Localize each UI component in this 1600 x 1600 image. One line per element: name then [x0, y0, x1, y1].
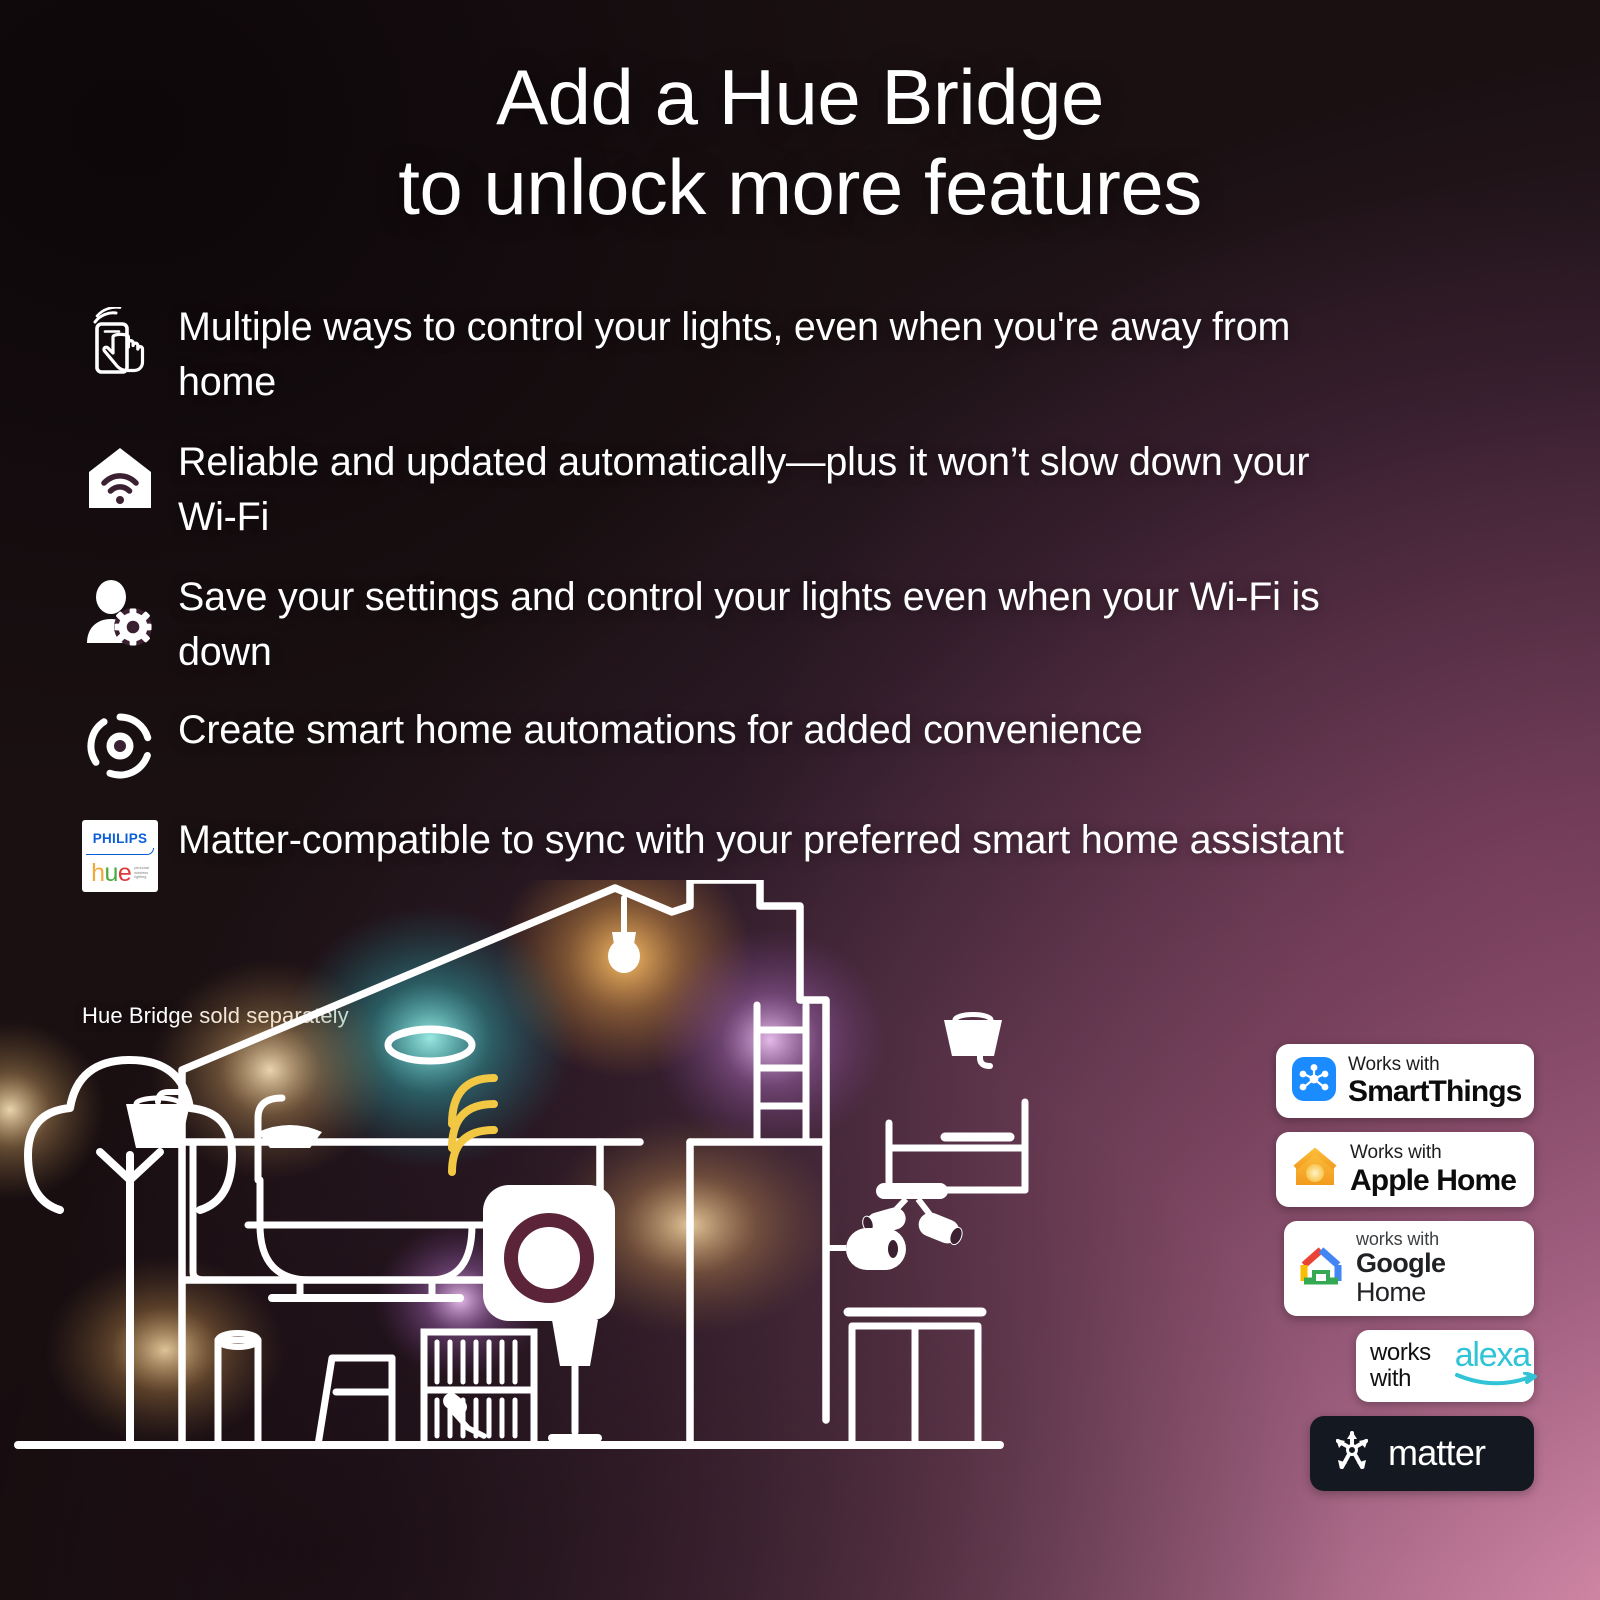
table-lamp — [552, 1320, 598, 1438]
chair — [318, 1358, 392, 1445]
feature-item-control: Multiple ways to control your lights, ev… — [72, 300, 1372, 409]
alexa-works-with-label: works with — [1370, 1339, 1443, 1393]
feature-item-save-settings: Save your settings and control your ligh… — [72, 570, 1372, 679]
user-gear-icon — [72, 574, 168, 652]
feature-text: Save your settings and control your ligh… — [168, 570, 1372, 679]
sideboard — [848, 1312, 982, 1445]
outdoor-wall-lantern — [126, 1092, 190, 1148]
feature-item-reliable: Reliable and updated automatically—plus … — [72, 435, 1372, 544]
badge-matter[interactable]: matter — [1310, 1416, 1534, 1491]
matter-wordmark: matter — [1388, 1435, 1485, 1471]
badge-small-label: Works with — [1348, 1054, 1521, 1075]
badge-brand-label: SmartThings — [1348, 1075, 1521, 1108]
matter-icon — [1330, 1429, 1374, 1478]
house-illustration — [0, 880, 1170, 1600]
badge-small-label: works with — [1356, 1229, 1520, 1249]
smartthings-icon — [1292, 1057, 1336, 1106]
badge-brand-label: Google Home — [1356, 1249, 1520, 1308]
feature-text: Multiple ways to control your lights, ev… — [168, 300, 1372, 409]
apple-home-icon — [1292, 1145, 1338, 1194]
page-title: Add a Hue Bridge to unlock more features — [0, 52, 1600, 233]
feature-list: Multiple ways to control your lights, ev… — [72, 300, 1372, 917]
badge-alexa[interactable]: works with alexa — [1356, 1330, 1534, 1402]
google-home-icon — [1298, 1245, 1344, 1292]
alexa-wordmark: alexa — [1443, 1339, 1539, 1393]
compatibility-badges: Works with SmartThings Works with Apple … — [1264, 1044, 1534, 1491]
philips-wordmark: PHILIPS — [82, 820, 158, 856]
hue-bridge-device — [483, 1185, 615, 1321]
feature-text: Create smart home automations for added … — [168, 703, 1143, 758]
house-wifi-icon — [72, 439, 168, 517]
title-line-1: Add a Hue Bridge — [496, 53, 1104, 141]
title-line-2: to unlock more features — [0, 142, 1600, 232]
alexa-smile-icon — [1455, 1372, 1539, 1393]
wall-sconce — [944, 1015, 1002, 1067]
hue-bridge-icon — [72, 707, 168, 785]
phone-tap-icon — [72, 304, 168, 382]
badge-smartthings[interactable]: Works with SmartThings — [1276, 1044, 1534, 1118]
feature-item-automations: Create smart home automations for added … — [72, 703, 1372, 785]
feature-text: Reliable and updated automatically—plus … — [168, 435, 1372, 544]
badge-brand-label: Apple Home — [1350, 1164, 1516, 1197]
hue-tagline: personal wireless lighting — [134, 866, 149, 881]
badge-apple-home[interactable]: Works with Apple Home — [1276, 1132, 1534, 1206]
badge-google-home[interactable]: works with Google Home — [1284, 1221, 1534, 1317]
feature-text: Matter-compatible to sync with your pref… — [168, 813, 1344, 868]
bed — [889, 1102, 1025, 1190]
badge-small-label: Works with — [1350, 1142, 1516, 1163]
